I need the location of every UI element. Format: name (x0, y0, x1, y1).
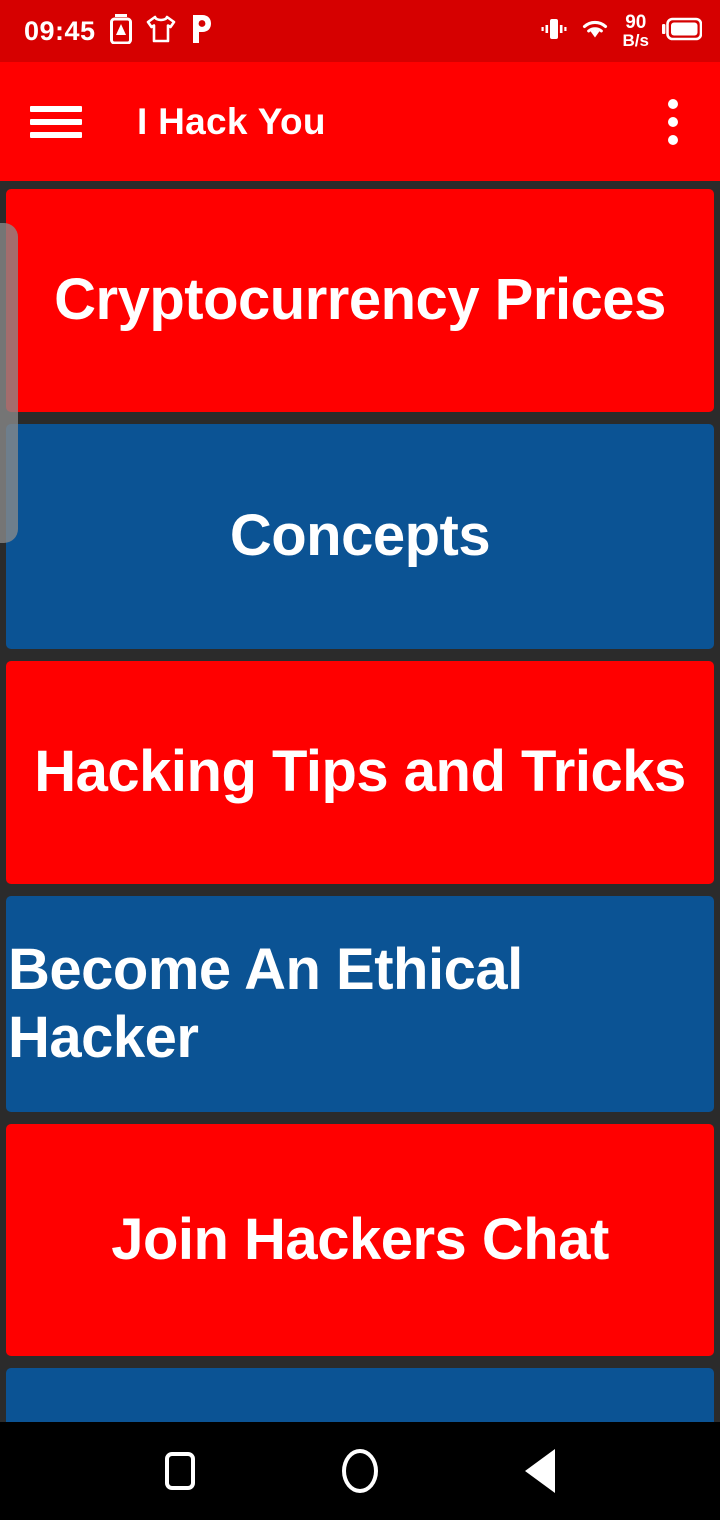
tshirt-icon (146, 15, 176, 48)
status-bar-left: 09:45 (24, 14, 212, 49)
network-speed-unit: B/s (623, 32, 649, 49)
card-label: Become An Ethical Hacker (6, 936, 714, 1073)
vibrate-icon (541, 16, 567, 47)
card-cryptocurrency-prices[interactable]: Cryptocurrency Prices (6, 189, 714, 412)
recents-button[interactable] (151, 1442, 209, 1500)
home-button[interactable] (331, 1442, 389, 1500)
hamburger-menu-icon[interactable] (30, 102, 82, 142)
card-next-partial[interactable] (6, 1368, 714, 1422)
card-become-an-ethical-hacker[interactable]: Become An Ethical Hacker (6, 896, 714, 1112)
status-bar-clock: 09:45 (24, 16, 96, 47)
card-list[interactable]: Cryptocurrency Prices Concepts Hacking T… (0, 181, 720, 1422)
network-speed-indicator: 90 B/s (623, 13, 649, 49)
network-speed-value: 90 (625, 13, 646, 32)
page-title: I Hack You (137, 101, 326, 143)
system-navigation-bar (0, 1422, 720, 1520)
square-icon (165, 1452, 195, 1490)
p-letter-icon (190, 14, 212, 49)
back-button[interactable] (511, 1442, 569, 1500)
card-label: Concepts (6, 502, 714, 570)
phone-screen: 09:45 (0, 0, 720, 1520)
card-label: Hacking Tips and Tricks (6, 738, 714, 806)
battery-icon (662, 17, 702, 46)
card-label: Join Hackers Chat (6, 1206, 714, 1274)
circle-icon (342, 1449, 378, 1493)
app-bar: I Hack You (0, 62, 720, 181)
triangle-icon (525, 1449, 555, 1493)
card-hacking-tips-and-tricks[interactable]: Hacking Tips and Tricks (6, 661, 714, 884)
more-vertical-icon[interactable] (650, 96, 696, 148)
card-join-hackers-chat[interactable]: Join Hackers Chat (6, 1124, 714, 1356)
status-bar: 09:45 (0, 0, 720, 62)
battery-alert-icon (110, 14, 132, 49)
card-label: Cryptocurrency Prices (6, 266, 714, 334)
card-concepts[interactable]: Concepts (6, 424, 714, 649)
status-bar-right: 90 B/s (541, 13, 702, 49)
wifi-icon (580, 17, 610, 46)
